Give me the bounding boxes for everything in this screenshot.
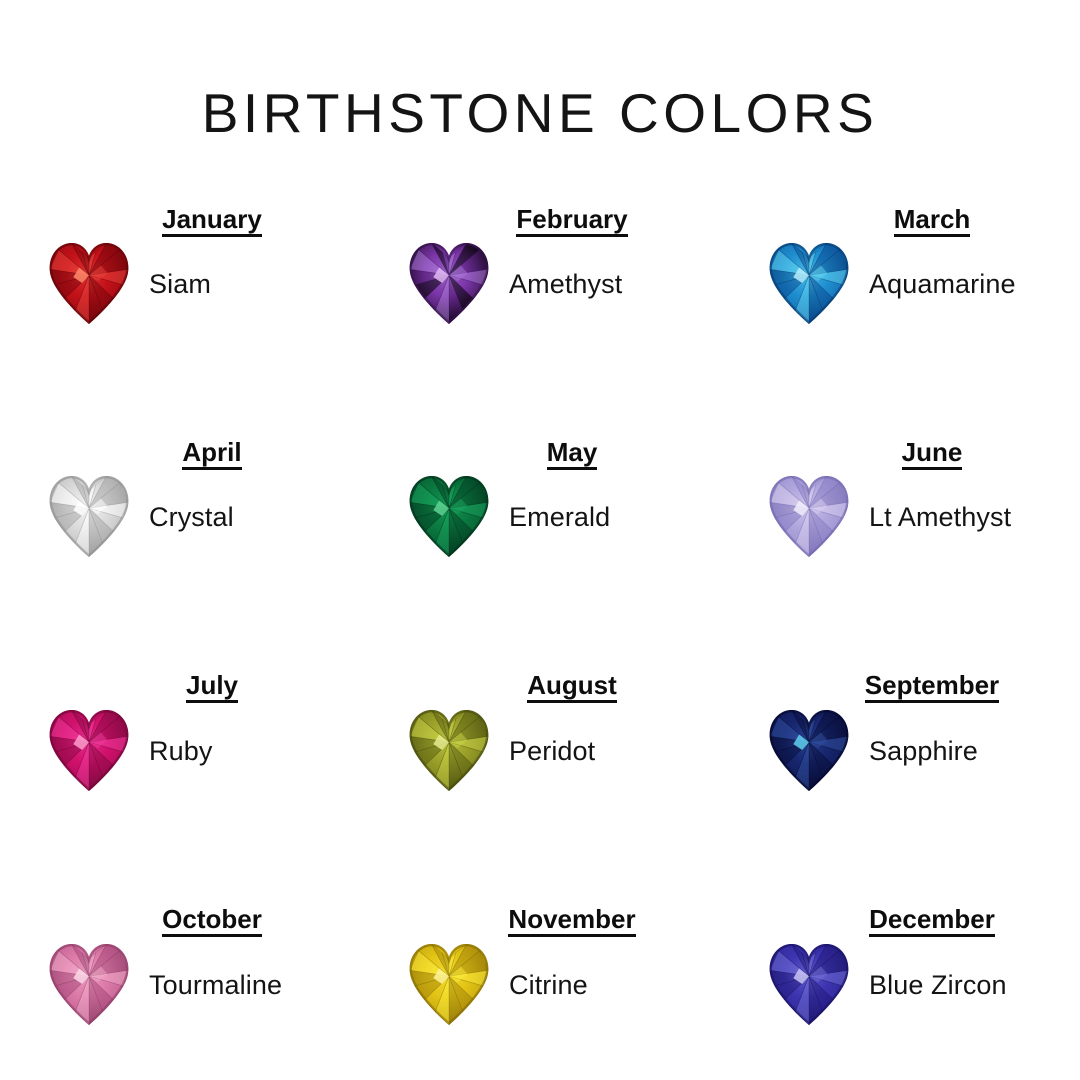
heart-gem-icon: [766, 473, 852, 561]
month-name-text: November: [508, 906, 635, 937]
stone-row: Peridot: [406, 707, 595, 795]
month-heading: October: [0, 904, 320, 937]
birthstone-cell-january: JanuarySiam: [0, 192, 360, 407]
month-heading: March: [720, 204, 1040, 237]
month-name-text: July: [186, 672, 238, 703]
month-heading: January: [0, 204, 320, 237]
stone-name-text: Sapphire: [869, 736, 978, 767]
month-name-text: May: [547, 439, 598, 470]
month-heading: April: [0, 437, 320, 470]
stone-name-text: Blue Zircon: [869, 970, 1007, 1001]
month-name-text: August: [527, 672, 617, 703]
stone-row: Sapphire: [766, 707, 978, 795]
birthstone-cell-june: JuneLt Amethyst: [720, 407, 1080, 622]
birthstone-cell-september: SeptemberSapphire: [720, 622, 1080, 837]
month-name-text: December: [869, 906, 995, 937]
month-heading: July: [0, 670, 320, 703]
heart-gem-icon: [406, 941, 492, 1029]
birthstone-cell-march: MarchAquamarine: [720, 192, 1080, 407]
stone-name-text: Lt Amethyst: [869, 502, 1011, 533]
stone-row: Aquamarine: [766, 240, 1016, 328]
month-heading: August: [360, 670, 680, 703]
birthstone-cell-february: FebruaryAmethyst: [360, 192, 720, 407]
birthstone-cell-april: AprilCrystal: [0, 407, 360, 622]
heart-gem-icon: [46, 473, 132, 561]
heart-gem-icon: [406, 240, 492, 328]
page-title: BIRTHSTONE COLORS: [0, 86, 1080, 141]
heart-gem-icon: [766, 707, 852, 795]
stone-row: Ruby: [46, 707, 212, 795]
month-name-text: October: [162, 906, 262, 937]
birthstone-cell-may: MayEmerald: [360, 407, 720, 622]
month-heading: December: [720, 904, 1040, 937]
month-heading: November: [360, 904, 680, 937]
stone-row: Blue Zircon: [766, 941, 1007, 1029]
month-heading: June: [720, 437, 1040, 470]
stone-name-text: Peridot: [509, 736, 595, 767]
stone-name-text: Aquamarine: [869, 269, 1016, 300]
birthstone-chart-page: BIRTHSTONE COLORS JanuarySiamFebruaryAme…: [0, 0, 1080, 1080]
birthstone-cell-december: DecemberBlue Zircon: [720, 837, 1080, 1052]
stone-row: Tourmaline: [46, 941, 282, 1029]
heart-gem-icon: [766, 240, 852, 328]
month-name-text: September: [865, 672, 999, 703]
month-heading: May: [360, 437, 680, 470]
month-heading: September: [720, 670, 1040, 703]
heart-gem-icon: [46, 240, 132, 328]
month-heading: February: [360, 204, 680, 237]
birthstone-cell-october: OctoberTourmaline: [0, 837, 360, 1052]
month-name-text: April: [182, 439, 241, 470]
month-name-text: January: [162, 206, 262, 237]
stone-row: Emerald: [406, 473, 610, 561]
stone-row: Citrine: [406, 941, 588, 1029]
stone-row: Siam: [46, 240, 211, 328]
stone-name-text: Crystal: [149, 502, 234, 533]
heart-gem-icon: [46, 707, 132, 795]
stone-name-text: Ruby: [149, 736, 212, 767]
month-name-text: June: [902, 439, 963, 470]
birthstone-cell-july: JulyRuby: [0, 622, 360, 837]
stone-row: Crystal: [46, 473, 234, 561]
month-name-text: February: [516, 206, 627, 237]
stone-name-text: Emerald: [509, 502, 610, 533]
stone-row: Lt Amethyst: [766, 473, 1011, 561]
heart-gem-icon: [46, 941, 132, 1029]
stone-name-text: Siam: [149, 269, 211, 300]
birthstone-grid: JanuarySiamFebruaryAmethystMarchAquamari…: [0, 192, 1080, 1052]
heart-gem-icon: [406, 707, 492, 795]
stone-name-text: Citrine: [509, 970, 588, 1001]
heart-gem-icon: [406, 473, 492, 561]
heart-gem-icon: [766, 941, 852, 1029]
stone-name-text: Tourmaline: [149, 970, 282, 1001]
birthstone-cell-august: AugustPeridot: [360, 622, 720, 837]
birthstone-cell-november: NovemberCitrine: [360, 837, 720, 1052]
stone-name-text: Amethyst: [509, 269, 622, 300]
month-name-text: March: [894, 206, 971, 237]
stone-row: Amethyst: [406, 240, 622, 328]
